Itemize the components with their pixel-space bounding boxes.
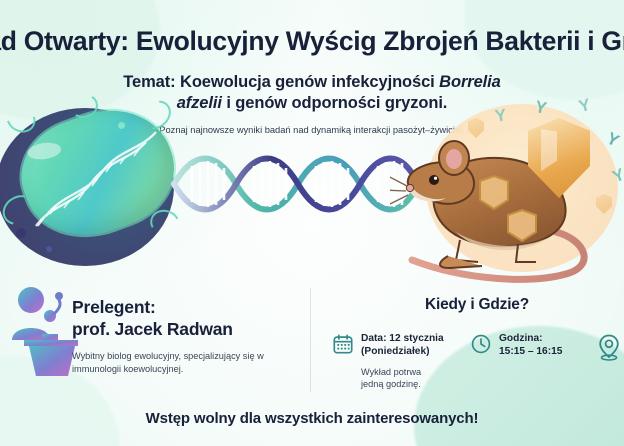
poster-footer: Wstęp wolny dla wszystkich zainteresowan… bbox=[146, 410, 479, 427]
clock-icon bbox=[470, 333, 492, 355]
speaker-heading-line1: Prelegent: bbox=[72, 297, 156, 317]
subtitle-species-genus: Borrelia bbox=[439, 73, 501, 91]
time-value: 15:15 – 16:15 bbox=[499, 346, 562, 357]
calendar-icon bbox=[332, 333, 354, 355]
speaker-bio: Wybitny biolog ewolucyjny, specjalizując… bbox=[72, 350, 304, 377]
when-where-heading: Kiedy i Gdzie? bbox=[330, 296, 624, 314]
artwork-band: Y Y Y Y Y bbox=[0, 100, 624, 290]
date-label: Data: 12 stycznia (Poniedziałek) bbox=[361, 332, 444, 359]
date-note: Wykład potrwa jedną godzinę. bbox=[361, 366, 444, 391]
speaker-heading: Prelegent: prof. Jacek Radwan bbox=[72, 296, 304, 341]
bacteria-internal-dna-icon bbox=[0, 108, 178, 278]
map-pin-icon bbox=[596, 333, 622, 361]
date-label-line2: (Poniedziałek) bbox=[361, 346, 430, 357]
time-label: Godzina: 15:15 – 16:15 bbox=[499, 332, 562, 359]
section-divider bbox=[310, 288, 311, 392]
date-label-line1: Data: 12 stycznia bbox=[361, 333, 444, 344]
time-label-line1: Godzina: bbox=[499, 333, 543, 344]
speaker-block: Prelegent: prof. Jacek Radwan Wybitny bi… bbox=[72, 296, 304, 376]
detail-date: Data: 12 stycznia (Poniedziałek) Wykład … bbox=[332, 332, 444, 390]
detail-place bbox=[596, 332, 622, 361]
speaker-at-podium-icon bbox=[6, 284, 78, 380]
dna-double-helix-illustration bbox=[170, 148, 420, 220]
date-note-line1: Wykład potrwa bbox=[361, 367, 421, 377]
date-note-line2: jedną godzinę. bbox=[361, 379, 421, 389]
speaker-name: prof. Jacek Radwan bbox=[72, 319, 233, 339]
poster-root: kład Otwarty: Ewolucyjny Wyścig Zbrojeń … bbox=[0, 0, 624, 446]
poster-title: kład Otwarty: Ewolucyjny Wyścig Zbrojeń … bbox=[0, 26, 624, 57]
subtitle-prefix: Temat: Koewolucja genów infekcyjności bbox=[123, 73, 439, 91]
detail-time: Godzina: 15:15 – 16:15 bbox=[470, 332, 562, 359]
